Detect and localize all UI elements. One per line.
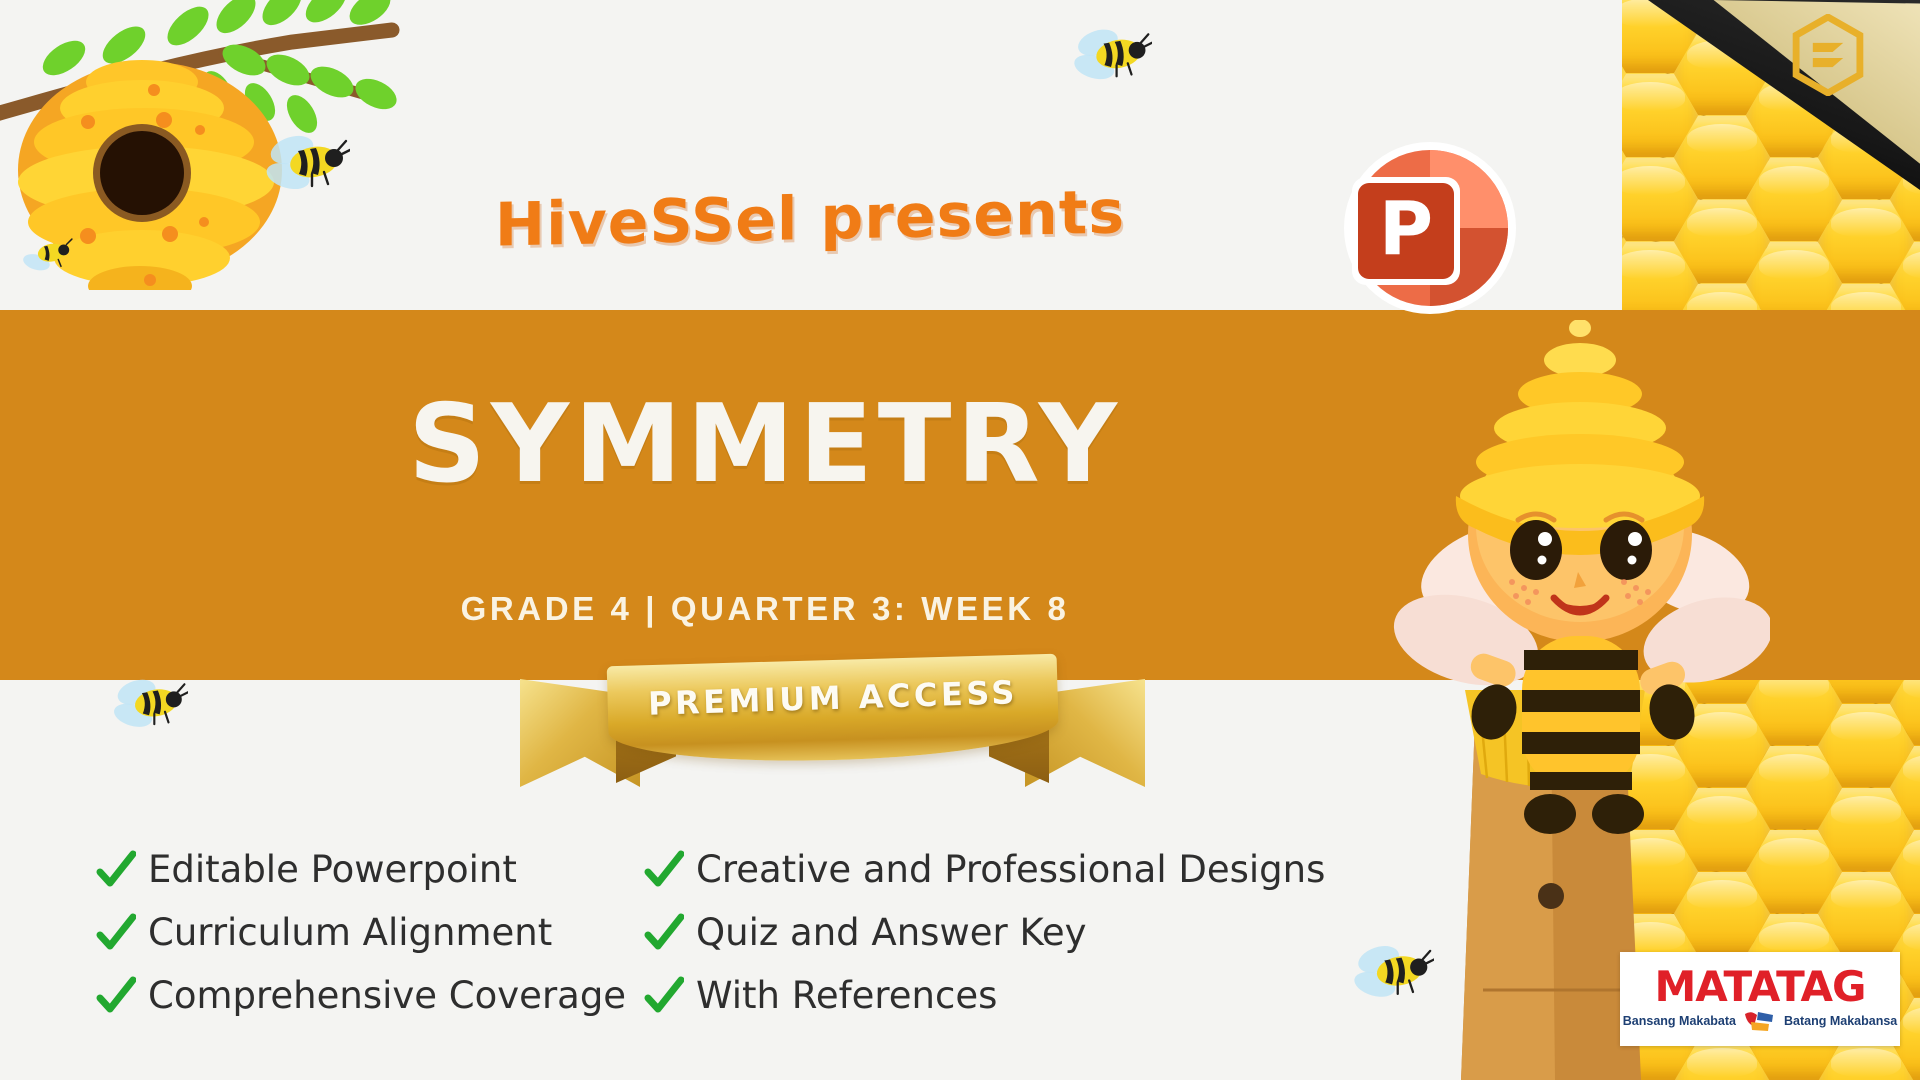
bee-icon <box>1070 22 1152 84</box>
feature-label: Curriculum Alignment <box>148 911 552 954</box>
list-item: Curriculum Alignment <box>96 911 596 954</box>
feature-column-left: Editable Powerpoint Curriculum Alignment… <box>96 848 596 1017</box>
feature-label: With References <box>696 974 997 1017</box>
bee-icon <box>110 672 188 732</box>
list-item: Comprehensive Coverage <box>96 974 596 1017</box>
list-item: With References <box>644 974 1364 1017</box>
matatag-wordmark: MATATAG <box>1654 966 1865 1008</box>
premium-ribbon: PREMIUM ACCESS <box>520 655 1145 805</box>
powerpoint-letter: P <box>1379 186 1433 272</box>
check-icon <box>96 850 136 890</box>
check-icon <box>644 976 684 1016</box>
check-icon <box>96 976 136 1016</box>
list-item: Editable Powerpoint <box>96 848 596 891</box>
bee-icon <box>1350 938 1434 1002</box>
matatag-logo: MATATAG Bansang Makabata Batang Makabans… <box>1620 952 1900 1046</box>
check-icon <box>644 850 684 890</box>
check-icon <box>644 913 684 953</box>
matatag-tagline-right: Batang Makabansa <box>1784 1014 1897 1028</box>
page-subtitle: GRADE 4 | QUARTER 3: WEEK 8 <box>0 590 1530 628</box>
bee-icon <box>262 128 350 194</box>
mascot-legs-icon <box>1524 794 1644 834</box>
page-title: SYMMETRY <box>0 382 1530 507</box>
powerpoint-icon[interactable]: P <box>1330 135 1520 325</box>
mascot-hat-icon <box>1456 320 1704 555</box>
matatag-tagline-left: Bansang Makabata <box>1623 1014 1736 1028</box>
feature-label: Comprehensive Coverage <box>148 974 626 1017</box>
bee-mascot-icon <box>1390 320 1770 900</box>
feature-label: Quiz and Answer Key <box>696 911 1087 954</box>
bee-icon <box>16 228 76 276</box>
matatag-hands-icon <box>1743 1010 1777 1032</box>
feature-list: Editable Powerpoint Curriculum Alignment… <box>96 848 1536 1017</box>
slide-cover: HiveSSel presents P SYMMETRY GRADE 4 | Q… <box>0 0 1920 1080</box>
feature-column-right: Creative and Professional Designs Quiz a… <box>644 848 1364 1017</box>
list-item: Quiz and Answer Key <box>644 911 1364 954</box>
list-item: Creative and Professional Designs <box>644 848 1364 891</box>
check-icon <box>96 913 136 953</box>
matatag-taglines: Bansang Makabata Batang Makabansa <box>1623 1010 1897 1032</box>
feature-label: Editable Powerpoint <box>148 848 517 891</box>
feature-label: Creative and Professional Designs <box>696 848 1325 891</box>
hivessel-hex-logo[interactable] <box>1790 14 1866 96</box>
